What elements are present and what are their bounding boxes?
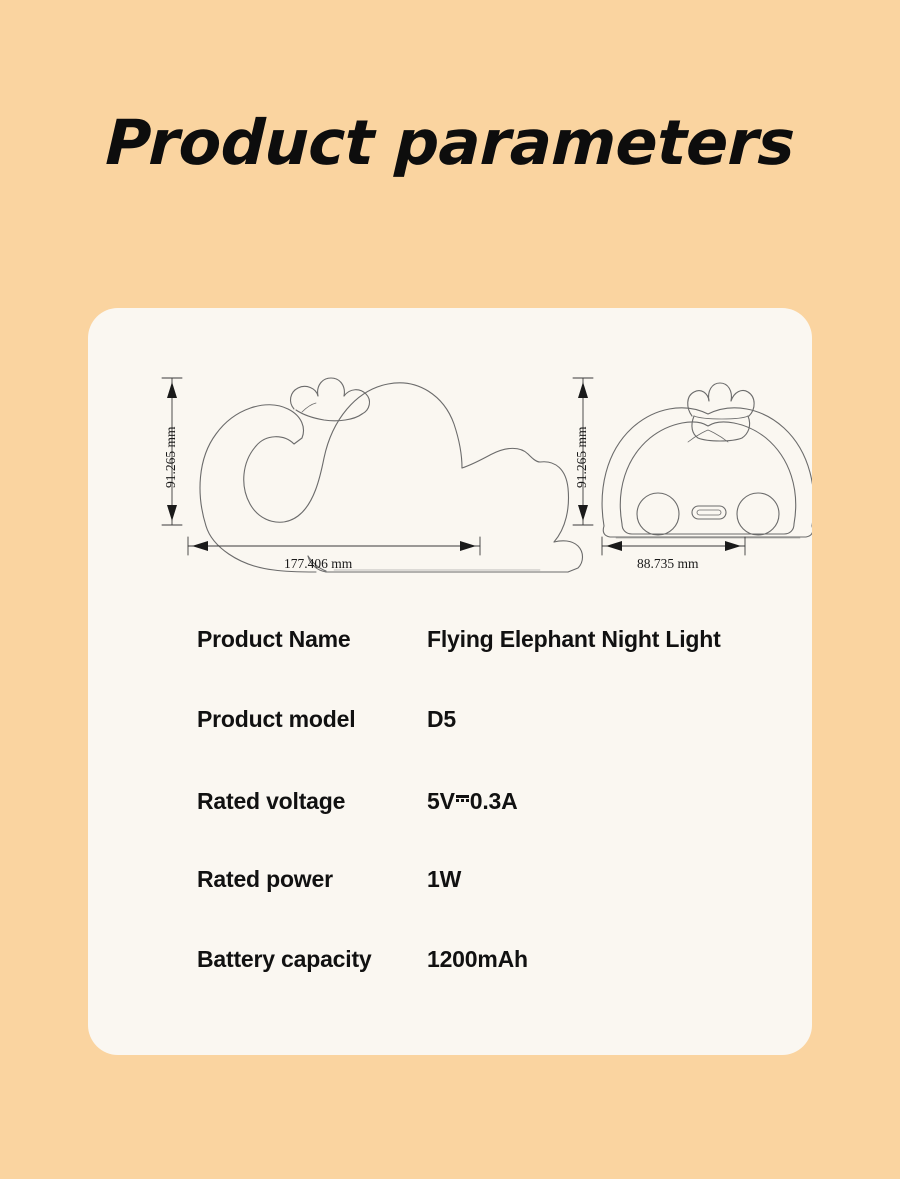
- spec-value-product-name: Flying Elephant Night Light: [427, 626, 797, 653]
- table-row: Rated voltage 5V0.3A: [197, 786, 797, 866]
- dimension-drawing-svg: [88, 308, 812, 598]
- spec-label-rated-power: Rated power: [197, 866, 427, 893]
- spec-value-rated-voltage: 5V0.3A: [427, 786, 797, 815]
- product-parameters-card: 91.265 mm 177.406 mm 91.265 mm 88.735 mm…: [88, 308, 812, 1055]
- front-view-crown: [688, 383, 754, 441]
- table-row: Battery capacity 1200mAh: [197, 946, 797, 1026]
- spec-table: Product Name Flying Elephant Night Light…: [197, 626, 797, 1026]
- front-view-width-label: 88.735 mm: [637, 556, 699, 572]
- side-view-width-label: 177.406 mm: [284, 556, 352, 572]
- spec-value-product-model: D5: [427, 706, 797, 733]
- spec-value-rated-power: 1W: [427, 866, 797, 893]
- table-row: Product Name Flying Elephant Night Light: [197, 626, 797, 706]
- page-title: Product parameters: [0, 112, 900, 174]
- side-view-height-label: 91.265 mm: [163, 426, 179, 488]
- rated-voltage-suffix: 0.3A: [470, 788, 518, 814]
- rated-voltage-prefix: 5V: [427, 788, 455, 814]
- spec-label-product-name: Product Name: [197, 626, 427, 653]
- dc-power-symbol-icon: [455, 786, 470, 809]
- front-view-height-label: 91.265 mm: [574, 426, 590, 488]
- side-view-outline: [200, 383, 582, 572]
- front-view-width-dimension: [602, 537, 745, 555]
- spec-label-rated-voltage: Rated voltage: [197, 788, 427, 815]
- spec-value-battery-capacity: 1200mAh: [427, 946, 797, 973]
- front-view-feet: [637, 493, 779, 535]
- usb-c-port: [692, 506, 726, 519]
- table-row: Product model D5: [197, 706, 797, 786]
- side-view-crown: [291, 378, 370, 421]
- product-dimension-drawings: 91.265 mm 177.406 mm 91.265 mm 88.735 mm: [88, 308, 812, 598]
- spec-label-battery-capacity: Battery capacity: [197, 946, 427, 973]
- side-view-width-dimension: [188, 537, 480, 555]
- spec-label-product-model: Product model: [197, 706, 427, 733]
- table-row: Rated power 1W: [197, 866, 797, 946]
